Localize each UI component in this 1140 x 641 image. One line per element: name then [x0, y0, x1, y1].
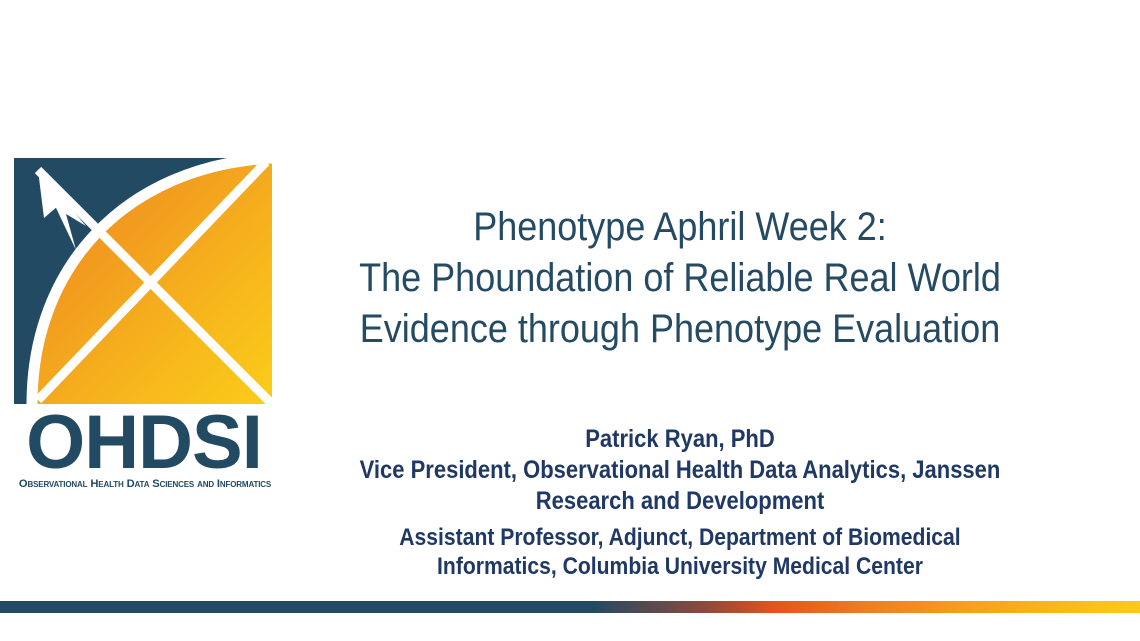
- slide-subtitle: Patrick Ryan, PhD Vice President, Observ…: [300, 424, 1060, 581]
- title-line-3: Evidence through Phenotype Evaluation: [338, 304, 1022, 355]
- affiliation-line-2: Research and Development: [346, 486, 1015, 517]
- title-slide: OHDSI Observational Health Data Sciences…: [0, 0, 1140, 641]
- presenter-name: Patrick Ryan, PhD: [346, 424, 1015, 455]
- title-line-1: Phenotype Aphril Week 2:: [338, 202, 1022, 253]
- footer-accent-bar: [0, 601, 1140, 613]
- ohdsi-logo-mark-icon: [14, 158, 272, 404]
- slide-title: Phenotype Aphril Week 2: The Phoundation…: [300, 202, 1060, 355]
- ohdsi-tagline: Observational Health Data Sciences and I…: [14, 478, 276, 491]
- affiliation-line-1: Vice President, Observational Health Dat…: [346, 455, 1015, 486]
- title-line-2: The Phoundation of Reliable Real World: [338, 253, 1022, 304]
- academic-line-1: Assistant Professor, Adjunct, Department…: [346, 523, 1015, 552]
- ohdsi-wordmark: OHDSI: [14, 410, 274, 476]
- ohdsi-logo: OHDSI Observational Health Data Sciences…: [14, 158, 274, 498]
- academic-line-2: Informatics, Columbia University Medical…: [346, 552, 1015, 581]
